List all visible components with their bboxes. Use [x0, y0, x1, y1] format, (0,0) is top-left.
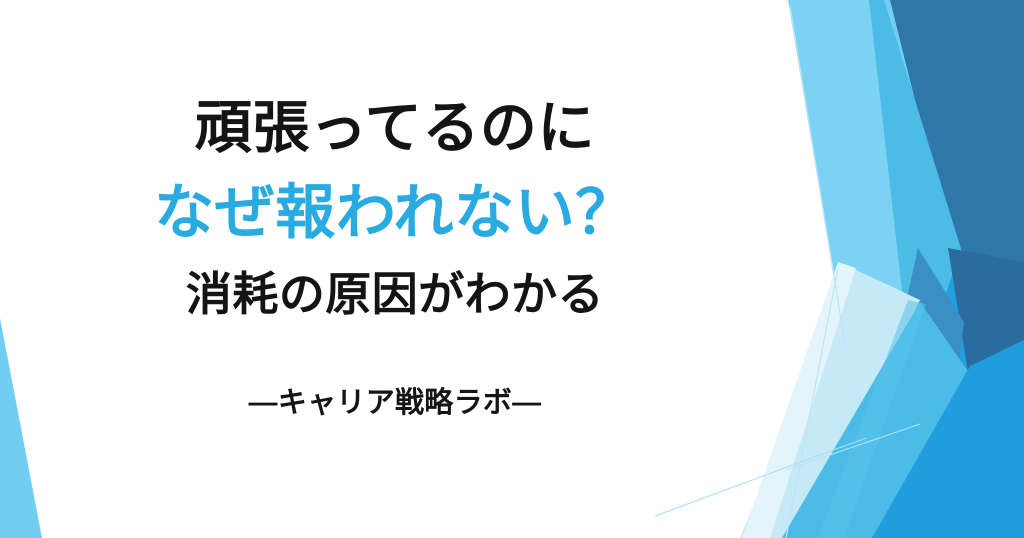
slide-canvas: 頑張ってるのに なぜ報われない？ 消耗の原因がわかる ―キャリア戦略ラボ―: [0, 0, 1024, 538]
headline-line-1: 頑張ってるのに: [195, 96, 595, 162]
facet-steel-triangle: [900, 248, 964, 420]
brand-tagline: ―キャリア戦略ラボ―: [249, 386, 542, 421]
headline-line-2-accent: なぜ報われない？: [154, 178, 636, 247]
hairline-diagonal-short: [786, 424, 920, 470]
hairline-lower: [786, 268, 838, 538]
facet-midblue-lower: [782, 302, 1024, 538]
facet-navy-triangle: [948, 248, 1024, 372]
headline-text-block: 頑張ってるのに なぜ報われない？ 消耗の原因がわかる ―キャリア戦略ラボ―: [0, 0, 790, 538]
facet-lightblue-top: [790, 0, 1024, 538]
facet-steel-band: [862, 0, 1024, 322]
headline-line-3: 消耗の原因がわかる: [186, 267, 604, 322]
facet-midblue-sliver: [869, 0, 1024, 538]
facet-brightblue-flank: [868, 250, 1024, 538]
facet-brightblue-lower: [872, 340, 1024, 538]
hairline-upper: [790, 6, 846, 350]
facet-accent-slim: [818, 300, 926, 538]
facet-lightblue-panel: [788, 0, 930, 352]
facet-steel-top: [920, 0, 1024, 300]
